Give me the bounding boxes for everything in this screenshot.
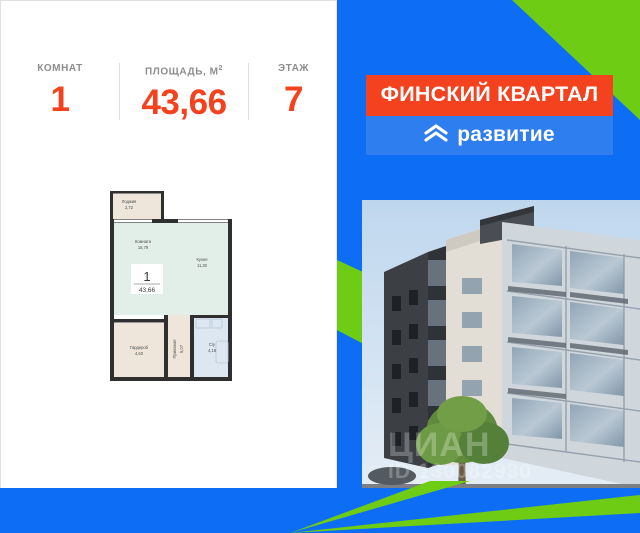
room-label-wardrobe-area: 4,60 (135, 351, 144, 356)
stat-area-unit: 2 (219, 65, 223, 72)
plan-badge-area: 43,66 (139, 287, 155, 294)
room-label-hallway-area: 5,07 (179, 344, 184, 353)
stat-floor-value: 7 (284, 82, 303, 117)
stat-rooms: КОМНАТ 1 (1, 63, 119, 117)
chevrons-up-icon (424, 124, 448, 146)
floor-plan-panel: КОМНАТ 1 ПЛОЩАДЬ, М2 43,66 ЭТАЖ 7 (0, 0, 337, 533)
room-shape-kitchen (174, 221, 230, 315)
promo-panel: ФИНСКИЙ КВАРТАЛ развитие (337, 0, 640, 533)
stat-area-value: 43,66 (141, 85, 226, 120)
stat-floor-label: ЭТАЖ (278, 63, 309, 75)
room-label-balcony-area: 2,72 (125, 205, 134, 210)
stat-area-label-text: ПЛОЩАДЬ, М (145, 66, 218, 77)
stat-rooms-label: КОМНАТ (37, 63, 83, 75)
room-label-balcony-name: Лоджия (122, 199, 137, 204)
room-label-bathroom-name: С/у (209, 342, 216, 347)
plan-badge-rooms: 1 (143, 269, 150, 284)
room-label-living-area: 15,79 (138, 245, 149, 250)
room-label-hallway-name: Прихожая (172, 340, 177, 359)
stat-area: ПЛОЩАДЬ, М2 43,66 (119, 63, 249, 120)
room-label-kitchen-name: Кухня (197, 257, 208, 262)
room-shape-balcony (112, 193, 164, 221)
floor-plan-drawing: Лоджия 2,72 Комната 15,79 Кухня 11,30 Га… (104, 191, 238, 383)
building-photo (362, 200, 640, 500)
brand-logo: ФИНСКИЙ КВАРТАЛ развитие (366, 75, 613, 155)
stat-area-label: ПЛОЩАДЬ, М2 (145, 63, 223, 78)
room-label-kitchen-area: 11,30 (197, 263, 208, 268)
stat-rooms-value: 1 (51, 82, 70, 117)
room-label-living-name: Комната (135, 239, 152, 244)
listing-card: КОМНАТ 1 ПЛОЩАДЬ, М2 43,66 ЭТАЖ 7 (0, 0, 640, 533)
apartment-stats: КОМНАТ 1 ПЛОЩАДЬ, М2 43,66 ЭТАЖ 7 (1, 63, 338, 120)
brand-subtitle-band: развитие (366, 116, 613, 155)
brand-subtitle: развитие (457, 124, 555, 145)
stat-floor: ЭТАЖ 7 (249, 63, 338, 117)
room-label-wardrobe-name: Гардероб (130, 345, 149, 350)
plan-summary-badge: 1 43,66 (131, 264, 163, 294)
room-label-bathroom-area: 4,18 (208, 348, 217, 353)
bottom-wedges (0, 473, 640, 533)
brand-title: ФИНСКИЙ КВАРТАЛ (366, 75, 613, 116)
